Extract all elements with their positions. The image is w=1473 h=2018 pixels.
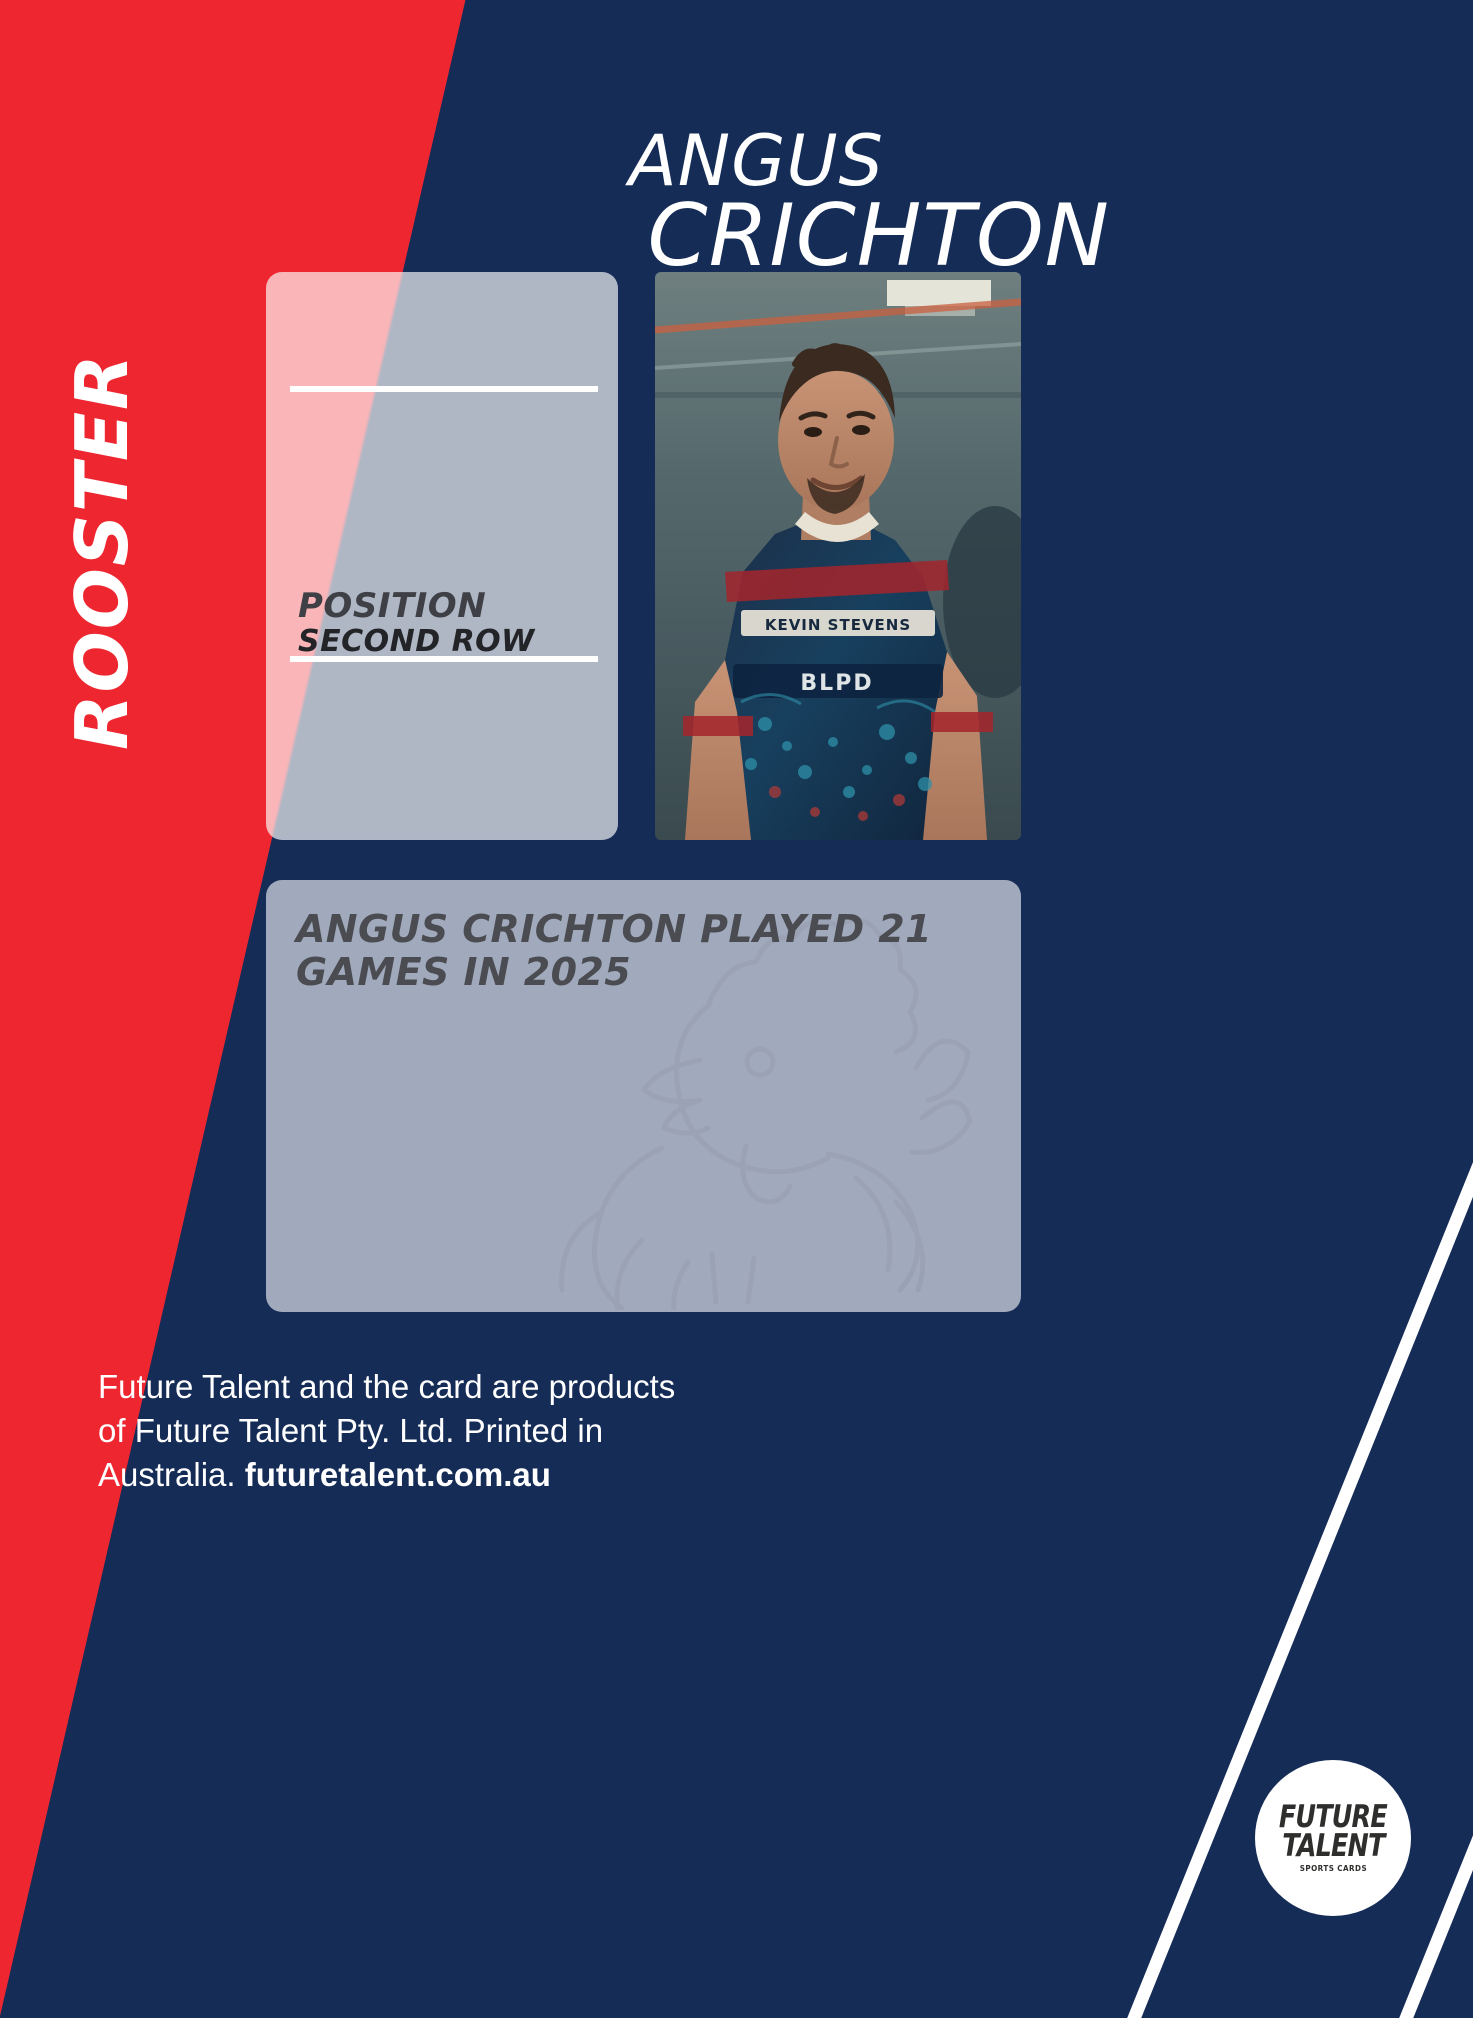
footer-line-1: Future Talent and the card are products xyxy=(98,1365,718,1409)
svg-text:KEVIN STEVENS: KEVIN STEVENS xyxy=(765,616,911,634)
position-label: POSITION xyxy=(298,586,486,626)
position-value: SECOND ROW xyxy=(298,624,535,659)
future-talent-logo[interactable]: FUTURE TALENT SPORTS CARDS xyxy=(1255,1760,1411,1916)
stats-panel: ANGUS CRICHTON PLAYED 21 GAMES IN 2025 xyxy=(266,880,1021,1312)
divider-line-bottom xyxy=(290,656,598,662)
footer-line-2: of Future Talent Pty. Ltd. Printed in xyxy=(98,1409,718,1453)
footer-line-3: Australia. futuretalent.com.au xyxy=(98,1453,718,1497)
info-panel xyxy=(266,272,618,840)
player-last-name: CRICHTON xyxy=(0,195,1120,278)
divider-line-top xyxy=(290,386,598,392)
svg-text:BLPD: BLPD xyxy=(800,671,873,696)
footer-website-url[interactable]: futuretalent.com.au xyxy=(245,1456,551,1493)
logo-line-3: SPORTS CARDS xyxy=(1299,1864,1366,1873)
footer-line-3-prefix: Australia. xyxy=(98,1456,245,1493)
team-name-vertical: ROOSTER xyxy=(60,430,144,750)
stats-text: ANGUS CRICHTON PLAYED 21 GAMES IN 2025 xyxy=(296,908,996,993)
white-diagonal-line-upper xyxy=(1040,1120,1473,2018)
player-trading-card: ROOSTER ANGUS CRICHTON POSITION SECOND R… xyxy=(0,0,1473,2018)
player-photo: BLPD KEVIN STEVENS xyxy=(655,272,1021,840)
player-name: ANGUS CRICHTON xyxy=(0,128,1120,278)
player-photo-image: BLPD KEVIN STEVENS xyxy=(655,272,1021,840)
player-first-name: ANGUS xyxy=(0,128,1120,195)
logo-line-2: TALENT xyxy=(1282,1832,1384,1861)
footer-legal-text: Future Talent and the card are products … xyxy=(98,1365,718,1497)
